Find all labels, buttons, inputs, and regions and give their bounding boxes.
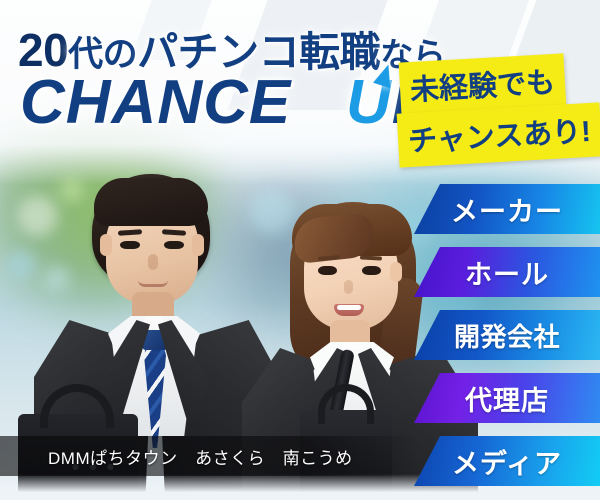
menu-item-development-company[interactable]: 開発会社: [414, 310, 600, 360]
menu-item-maker-label: メーカー: [451, 190, 563, 229]
menu-item-hall[interactable]: ホール: [414, 247, 600, 297]
logo-word-chance: CHANCE: [20, 68, 291, 137]
logo-letter-u: U: [346, 72, 392, 134]
logo-chance-up: CHANCE U P: [20, 72, 434, 134]
woman-ear: [390, 262, 402, 282]
credit-text: DMMぱちタウン あさくら 南こうめ: [0, 444, 353, 469]
menu-item-development-company-label: 開発会社: [454, 317, 560, 354]
man-mouth: [138, 280, 168, 287]
man-eye-right: [164, 241, 184, 249]
menu-item-agency[interactable]: 代理店: [414, 373, 600, 423]
credit-bar: DMMぱちタウン あさくら 南こうめ: [0, 436, 420, 476]
menu-item-media[interactable]: メディア: [414, 436, 600, 486]
woman-eye-left: [318, 266, 337, 275]
man-ear-right: [192, 234, 204, 256]
man-fringe: [94, 178, 208, 226]
man-eye-left: [120, 241, 140, 249]
menu-item-media-label: メディア: [452, 442, 562, 481]
menu-item-hall-label: ホール: [465, 253, 549, 292]
woman-teeth: [337, 305, 361, 310]
menu-item-maker[interactable]: メーカー: [414, 184, 600, 234]
woman-nose: [344, 280, 353, 294]
man-nose: [148, 254, 158, 270]
recruitment-banner: 20代のパチンコ転職なら CHANCE U P 未経験でも チャンスあり! メー…: [0, 0, 600, 500]
man-ear-left: [100, 234, 112, 256]
woman-eye-right: [362, 266, 381, 275]
badge-chance-available: チャンスあり!: [397, 102, 600, 167]
menu-item-agency-label: 代理店: [465, 379, 549, 418]
